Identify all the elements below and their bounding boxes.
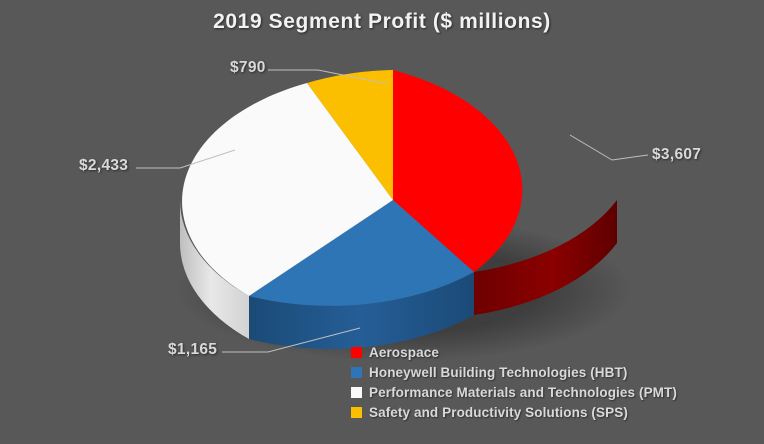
legend-item-sps[interactable]: Safety and Productivity Solutions (SPS) <box>351 404 677 421</box>
legend-swatch-icon-aerospace <box>351 347 362 358</box>
data-label-sps: $790 <box>230 59 266 77</box>
data-label-hbt: $1,165 <box>168 341 217 359</box>
legend-item-aerospace[interactable]: Aerospace <box>351 344 677 361</box>
legend-swatch-icon-hbt <box>351 367 362 378</box>
legend-item-hbt[interactable]: Honeywell Building Technologies (HBT) <box>351 364 677 381</box>
legend-item-pmt[interactable]: Performance Materials and Technologies (… <box>351 384 677 401</box>
legend-label-pmt: Performance Materials and Technologies (… <box>369 385 677 400</box>
legend-label-sps: Safety and Productivity Solutions (SPS) <box>369 405 628 420</box>
legend-label-aerospace: Aerospace <box>369 345 439 360</box>
data-label-pmt: $2,433 <box>79 157 128 175</box>
pie-chart-figure: 2019 Segment Profit ($ millions) <box>0 0 764 444</box>
leader-line-aerospace-2 <box>570 135 612 160</box>
legend-swatch-icon-pmt <box>351 387 362 398</box>
legend-swatch-icon-sps <box>351 407 362 418</box>
leader-line-aerospace <box>612 155 648 160</box>
data-label-aerospace: $3,607 <box>652 146 701 164</box>
chart-legend: Aerospace Honeywell Building Technologie… <box>351 344 677 421</box>
legend-label-hbt: Honeywell Building Technologies (HBT) <box>369 365 627 380</box>
